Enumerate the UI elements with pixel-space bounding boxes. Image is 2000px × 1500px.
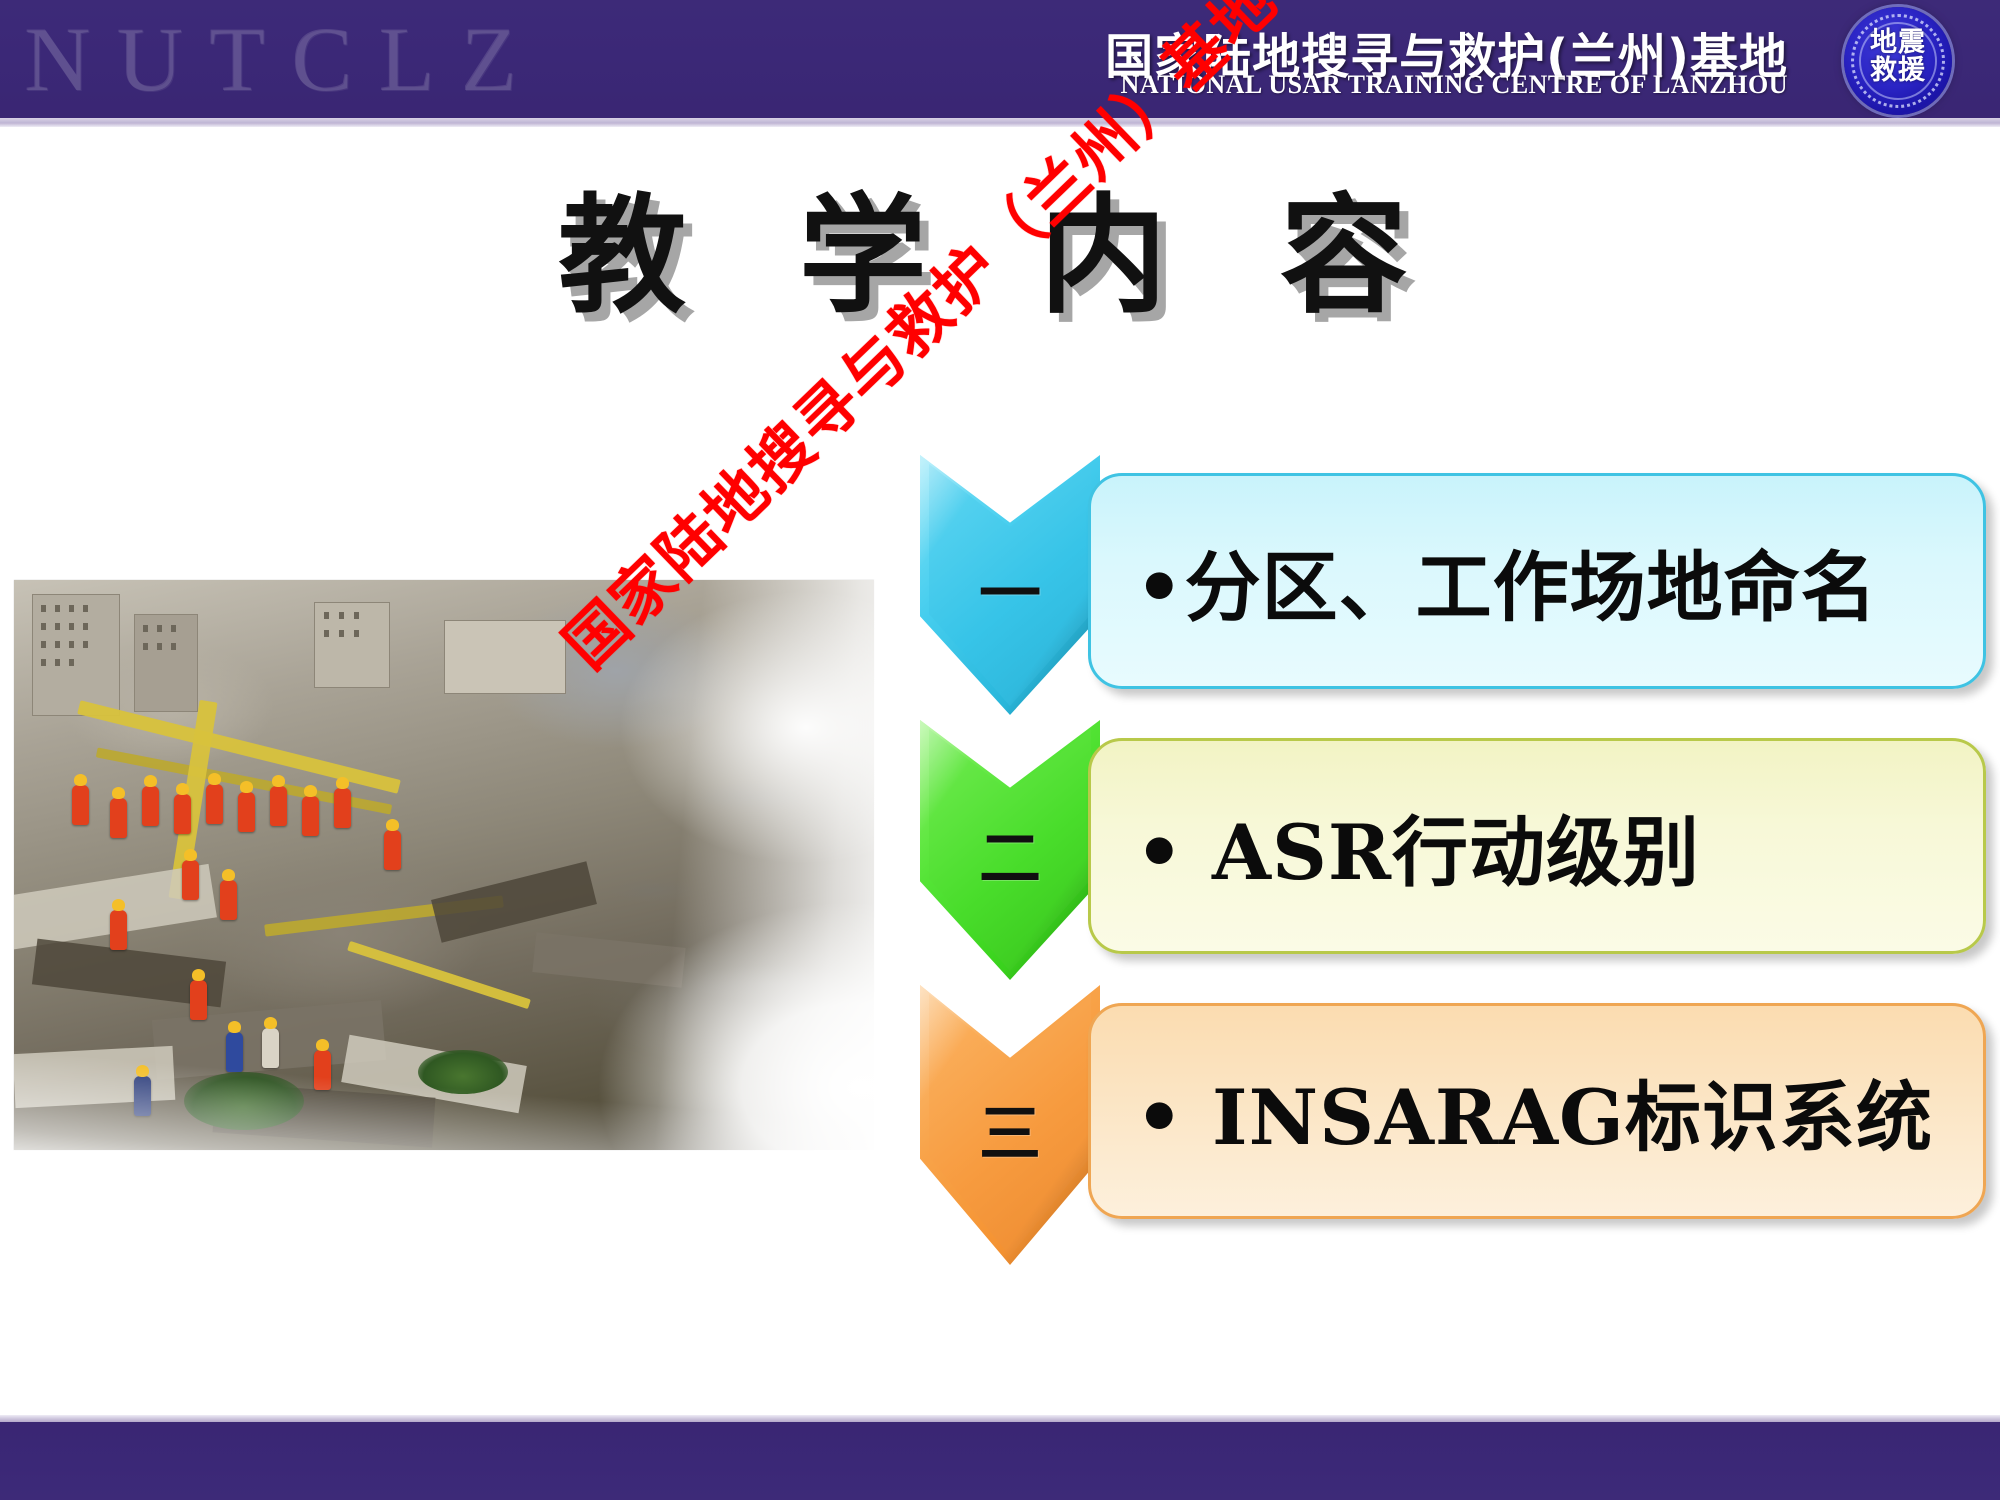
agenda-banner-1[interactable]: •分区、工作场地命名 [1088,473,1986,689]
agenda-label-3: • INSARAG标识系统 [1091,1056,1933,1166]
agenda-label-2: • ASR行动级别 [1091,791,1700,901]
agenda-chevron-2[interactable]: 二 [920,720,1100,980]
agenda-number-2: 二 [979,808,1041,898]
agenda-label-1: •分区、工作场地命名 [1091,526,1878,636]
footer-bar [0,1422,2000,1500]
agenda-chevron-1[interactable]: 一 [920,455,1100,715]
agenda-chevron-3[interactable]: 三 [920,985,1100,1265]
list-item[interactable]: 一 •分区、工作场地命名 [920,455,1980,715]
agenda-list: 一 •分区、工作场地命名 二 • ASR行动级别 [0,0,2000,1500]
footer-overline-rule [0,1415,2000,1422]
agenda-text-3: INSARAG标识系统 [1212,1073,1933,1162]
list-item[interactable]: 三 • INSARAG标识系统 [920,985,1980,1265]
agenda-number-1: 一 [979,543,1041,633]
list-item[interactable]: 二 • ASR行动级别 [920,720,1980,980]
agenda-bullet-3: • [1135,1073,1185,1162]
agenda-text-2: ASR行动级别 [1212,808,1700,897]
agenda-number-3: 三 [979,1083,1041,1173]
agenda-banner-2[interactable]: • ASR行动级别 [1088,738,1986,954]
agenda-text-1: 分区、工作场地命名 [1185,543,1878,632]
agenda-bullet-2: • [1135,808,1185,897]
slide: NUTCLZ 国家陆地搜寻与救护(兰州)基地 NATIONAL USAR TRA… [0,0,2000,1500]
agenda-banner-3[interactable]: • INSARAG标识系统 [1088,1003,1986,1219]
agenda-bullet-1: • [1135,543,1185,632]
